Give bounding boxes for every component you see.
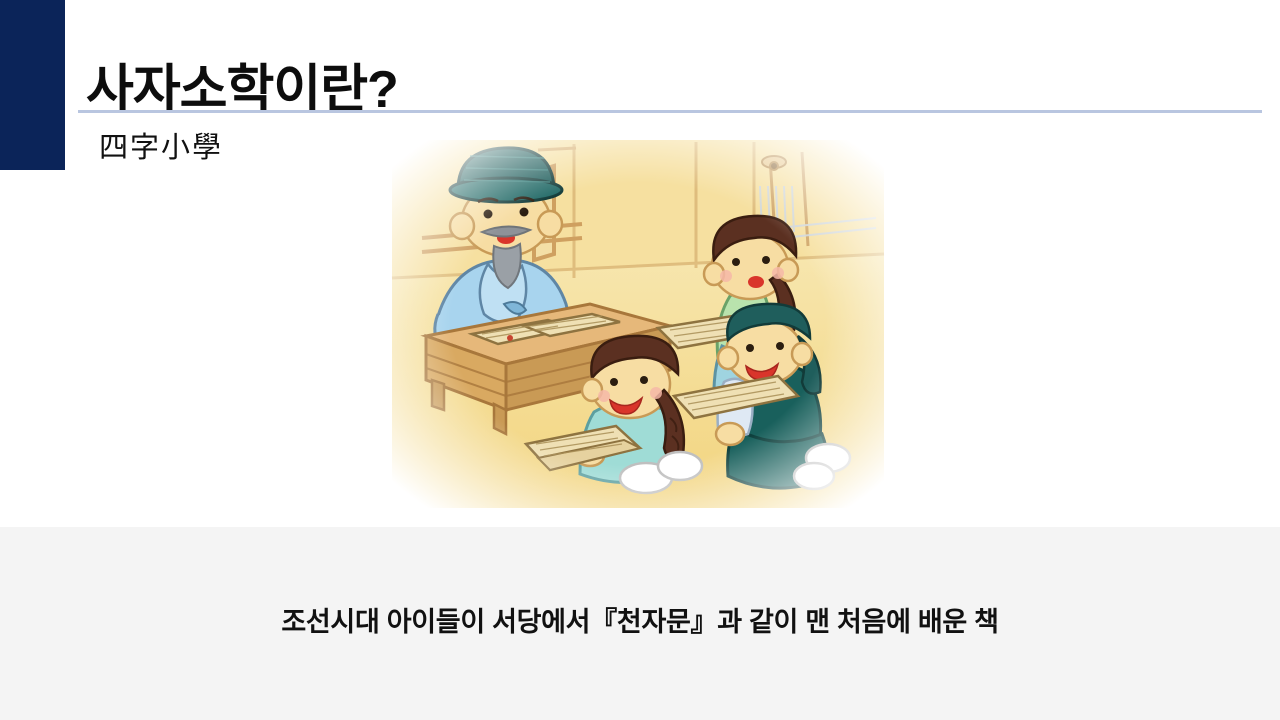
caption-text: 조선시대 아이들이 서당에서『천자문』과 같이 맨 처음에 배운 책 bbox=[0, 600, 1280, 639]
slide-canvas: 사자소학이란? 四字小學 bbox=[0, 0, 1280, 720]
seodang-illustration bbox=[378, 128, 898, 520]
title-accent-block bbox=[0, 0, 65, 170]
subtitle-hanja: 四字小學 bbox=[99, 124, 223, 166]
title-divider-rule bbox=[78, 110, 1262, 113]
